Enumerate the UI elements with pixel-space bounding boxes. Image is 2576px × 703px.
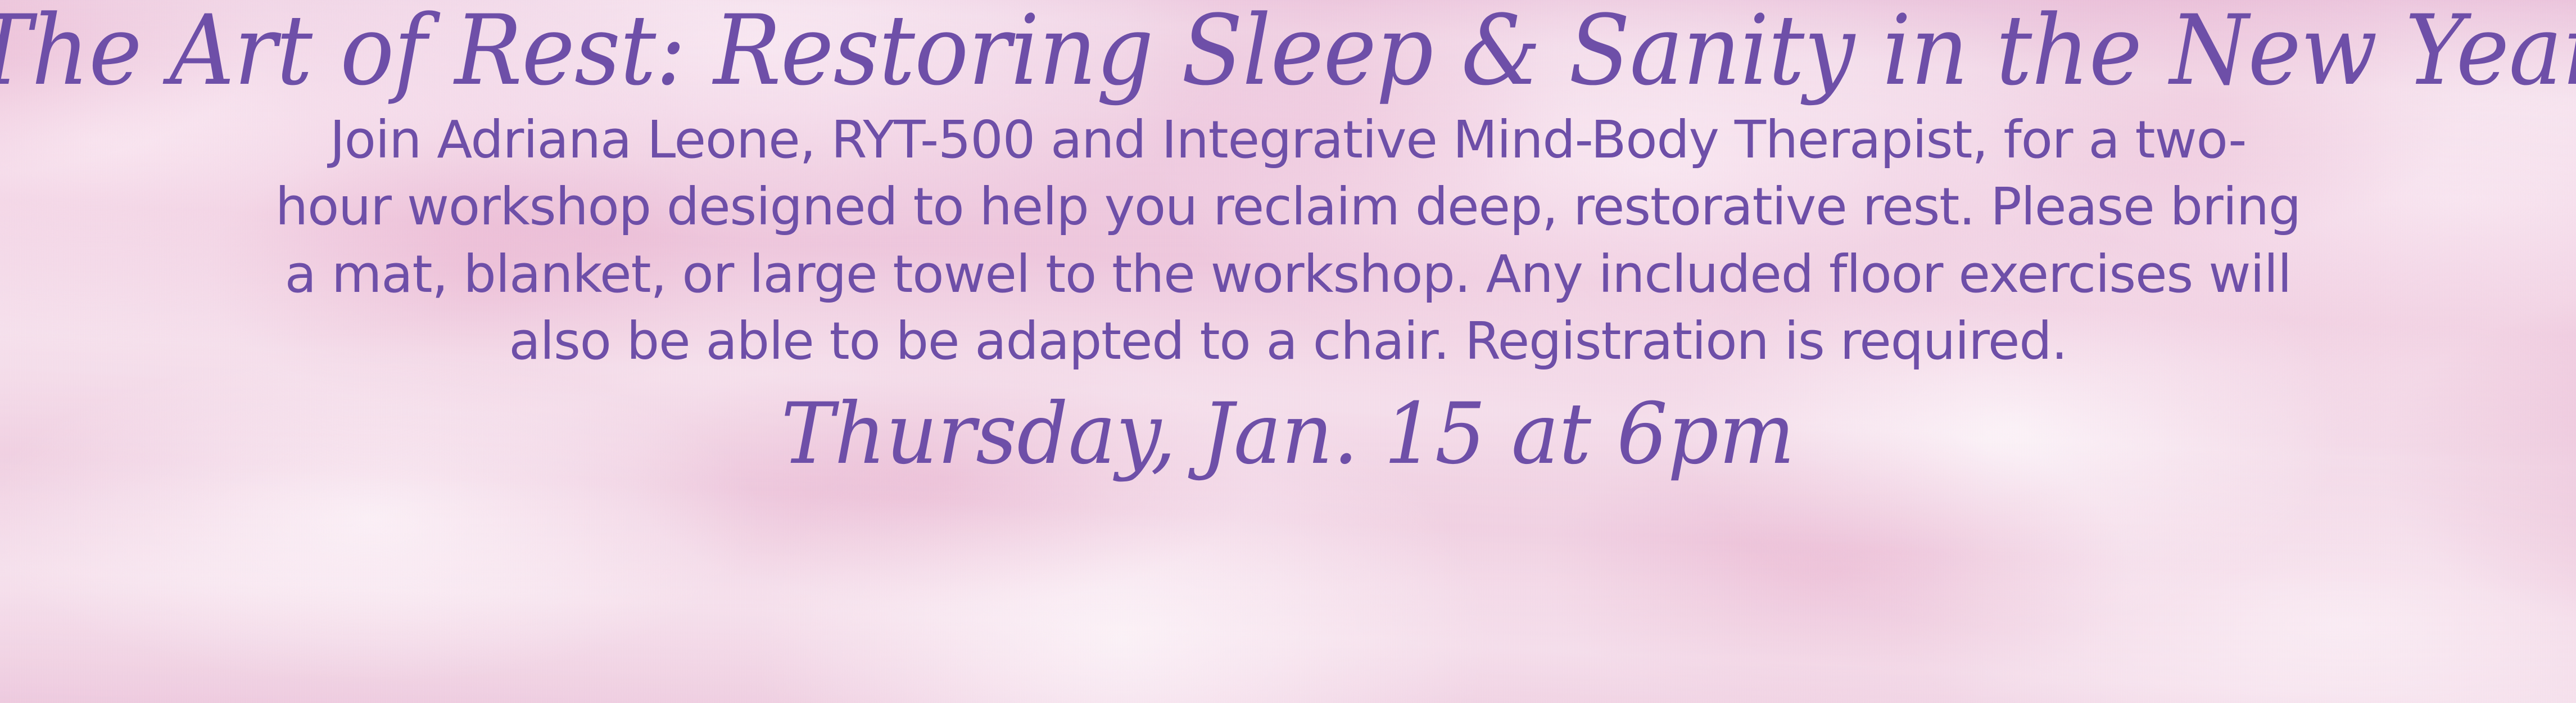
description-line-1: Join Adriana Leone, RYT-500 and Integrat…	[275, 106, 2301, 174]
banner-content: The Art of Rest: Restoring Sleep & Sanit…	[0, 0, 2576, 703]
event-date-time: Thursday, Jan. 15 at 6pm	[781, 392, 1795, 476]
description-line-4: also be able to be adapted to a chair. R…	[275, 308, 2301, 375]
description-line-3: a mat, blanket, or large towel to the wo…	[275, 241, 2301, 308]
event-title: The Art of Rest: Restoring Sleep & Sanit…	[0, 0, 2576, 98]
event-description: Join Adriana Leone, RYT-500 and Integrat…	[242, 106, 2334, 375]
description-line-2: hour workshop designed to help you recla…	[275, 173, 2301, 241]
event-promo-banner: The Art of Rest: Restoring Sleep & Sanit…	[0, 0, 2576, 703]
